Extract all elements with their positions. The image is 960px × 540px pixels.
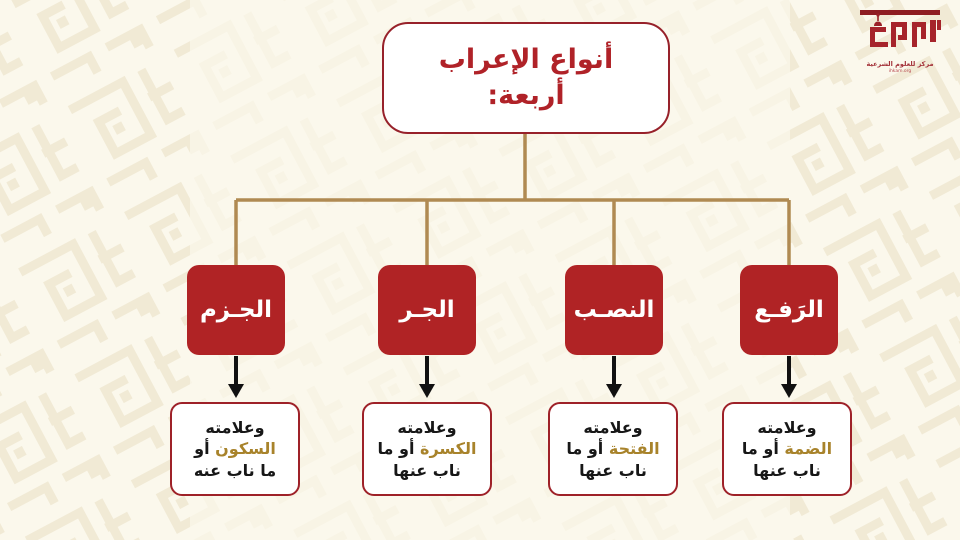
detail-text: أو ما — [742, 439, 784, 458]
category-box-raf[interactable]: الرَفـع — [740, 265, 838, 355]
detail-box-jarr: وعلامتهالكسرة أو ماناب عنها — [362, 402, 492, 496]
detail-line: ناب عنها — [393, 460, 461, 481]
detail-text: أو ما — [566, 439, 608, 458]
detail-box-jazm: وعلامتهالسكون أوما ناب عنه — [170, 402, 300, 496]
detail-box-nasb: وعلامتهالفتحة أو ماناب عنها — [548, 402, 678, 496]
detail-line: السكون أو — [194, 438, 276, 459]
category-box-nasb[interactable]: النصـب — [565, 265, 663, 355]
detail-line: ناب عنها — [753, 460, 821, 481]
detail-text: وعلامته — [583, 418, 642, 437]
detail-line: الكسرة أو ما — [378, 438, 477, 459]
detail-line: وعلامته — [397, 417, 456, 438]
detail-line: ناب عنها — [579, 460, 647, 481]
logo-wordmark-icon — [854, 10, 946, 58]
detail-line: وعلامته — [757, 417, 816, 438]
detail-text: أو ما — [378, 439, 420, 458]
detail-text: ناب عنها — [579, 461, 647, 480]
detail-text: ناب عنها — [753, 461, 821, 480]
category-box-jarr[interactable]: الجـر — [378, 265, 476, 355]
title-line-1: أنواع الإعراب — [439, 42, 613, 78]
detail-text: ما ناب عنه — [194, 461, 276, 480]
brand-logo[interactable]: مركز للعلوم الشرعية ihkam.org — [848, 10, 952, 94]
detail-text: وعلامته — [397, 418, 456, 437]
detail-text: ناب عنها — [393, 461, 461, 480]
category-box-jazm[interactable]: الجـزم — [187, 265, 285, 355]
diagram-title-card: أنواع الإعراب أربعة: — [382, 22, 670, 134]
diagram-canvas: أنواع الإعراب أربعة: الرَفـع النصـب الجـ… — [0, 0, 960, 540]
detail-text: وعلامته — [757, 418, 816, 437]
detail-keyword: الفتحة — [609, 439, 660, 458]
detail-keyword: الكسرة — [420, 439, 476, 458]
title-line-2: أربعة: — [487, 78, 564, 114]
category-label-nasb: النصـب — [574, 297, 655, 323]
detail-line: الفتحة أو ما — [566, 438, 659, 459]
category-label-raf: الرَفـع — [754, 297, 823, 323]
detail-keyword: السكون — [215, 439, 276, 458]
detail-box-raf: وعلامتهالضمة أو ماناب عنها — [722, 402, 852, 496]
detail-line: الضمة أو ما — [742, 438, 832, 459]
category-label-jarr: الجـر — [399, 297, 454, 323]
logo-subtitle: مركز للعلوم الشرعية — [866, 60, 933, 68]
detail-line: وعلامته — [205, 417, 264, 438]
logo-url: ihkam.org — [889, 69, 912, 74]
detail-text: أو — [194, 439, 215, 458]
detail-line: وعلامته — [583, 417, 642, 438]
category-label-jazm: الجـزم — [200, 297, 272, 323]
detail-line: ما ناب عنه — [194, 460, 276, 481]
detail-keyword: الضمة — [784, 439, 832, 458]
detail-text: وعلامته — [205, 418, 264, 437]
